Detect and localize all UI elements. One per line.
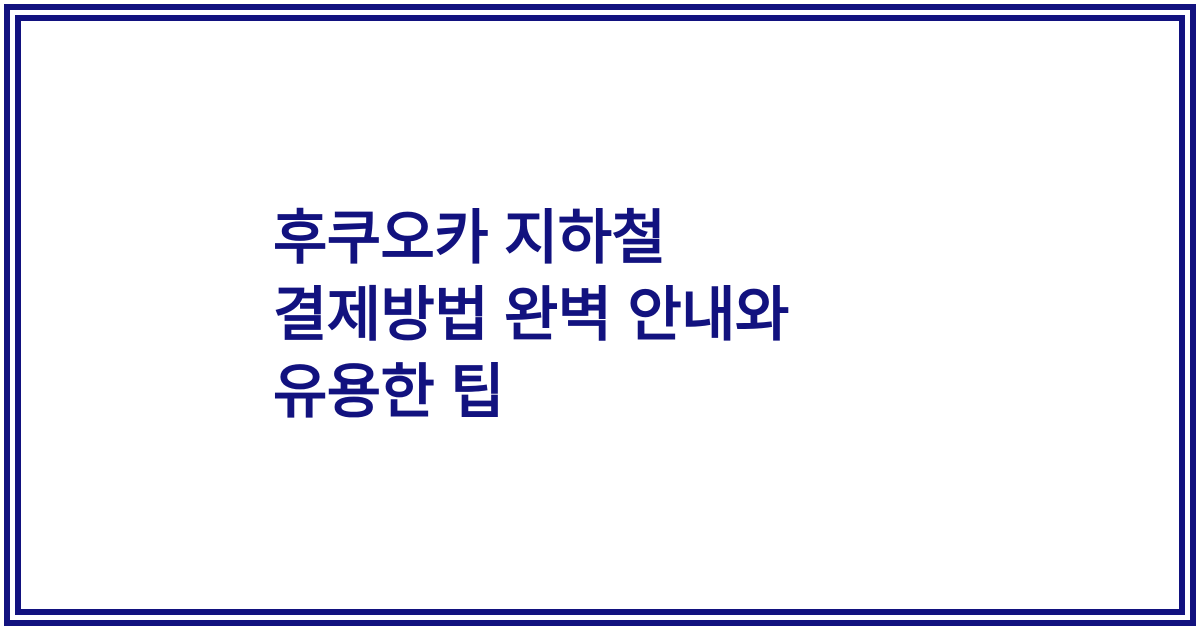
page-title-line: 결제방법 완벽 안내와	[273, 282, 789, 348]
card-content: 후쿠오카 지하철결제방법 완벽 안내와유용한 팁	[21, 21, 1179, 609]
page-title-line: 유용한 팁	[273, 359, 504, 425]
title-card: 후쿠오카 지하철결제방법 완벽 안내와유용한 팁	[0, 0, 1200, 630]
page-title: 후쿠오카 지하철결제방법 완벽 안내와유용한 팁	[273, 200, 1139, 431]
title-block: 후쿠오카 지하철결제방법 완벽 안내와유용한 팁	[21, 200, 1179, 431]
page-title-line: 후쿠오카 지하철	[273, 205, 665, 271]
